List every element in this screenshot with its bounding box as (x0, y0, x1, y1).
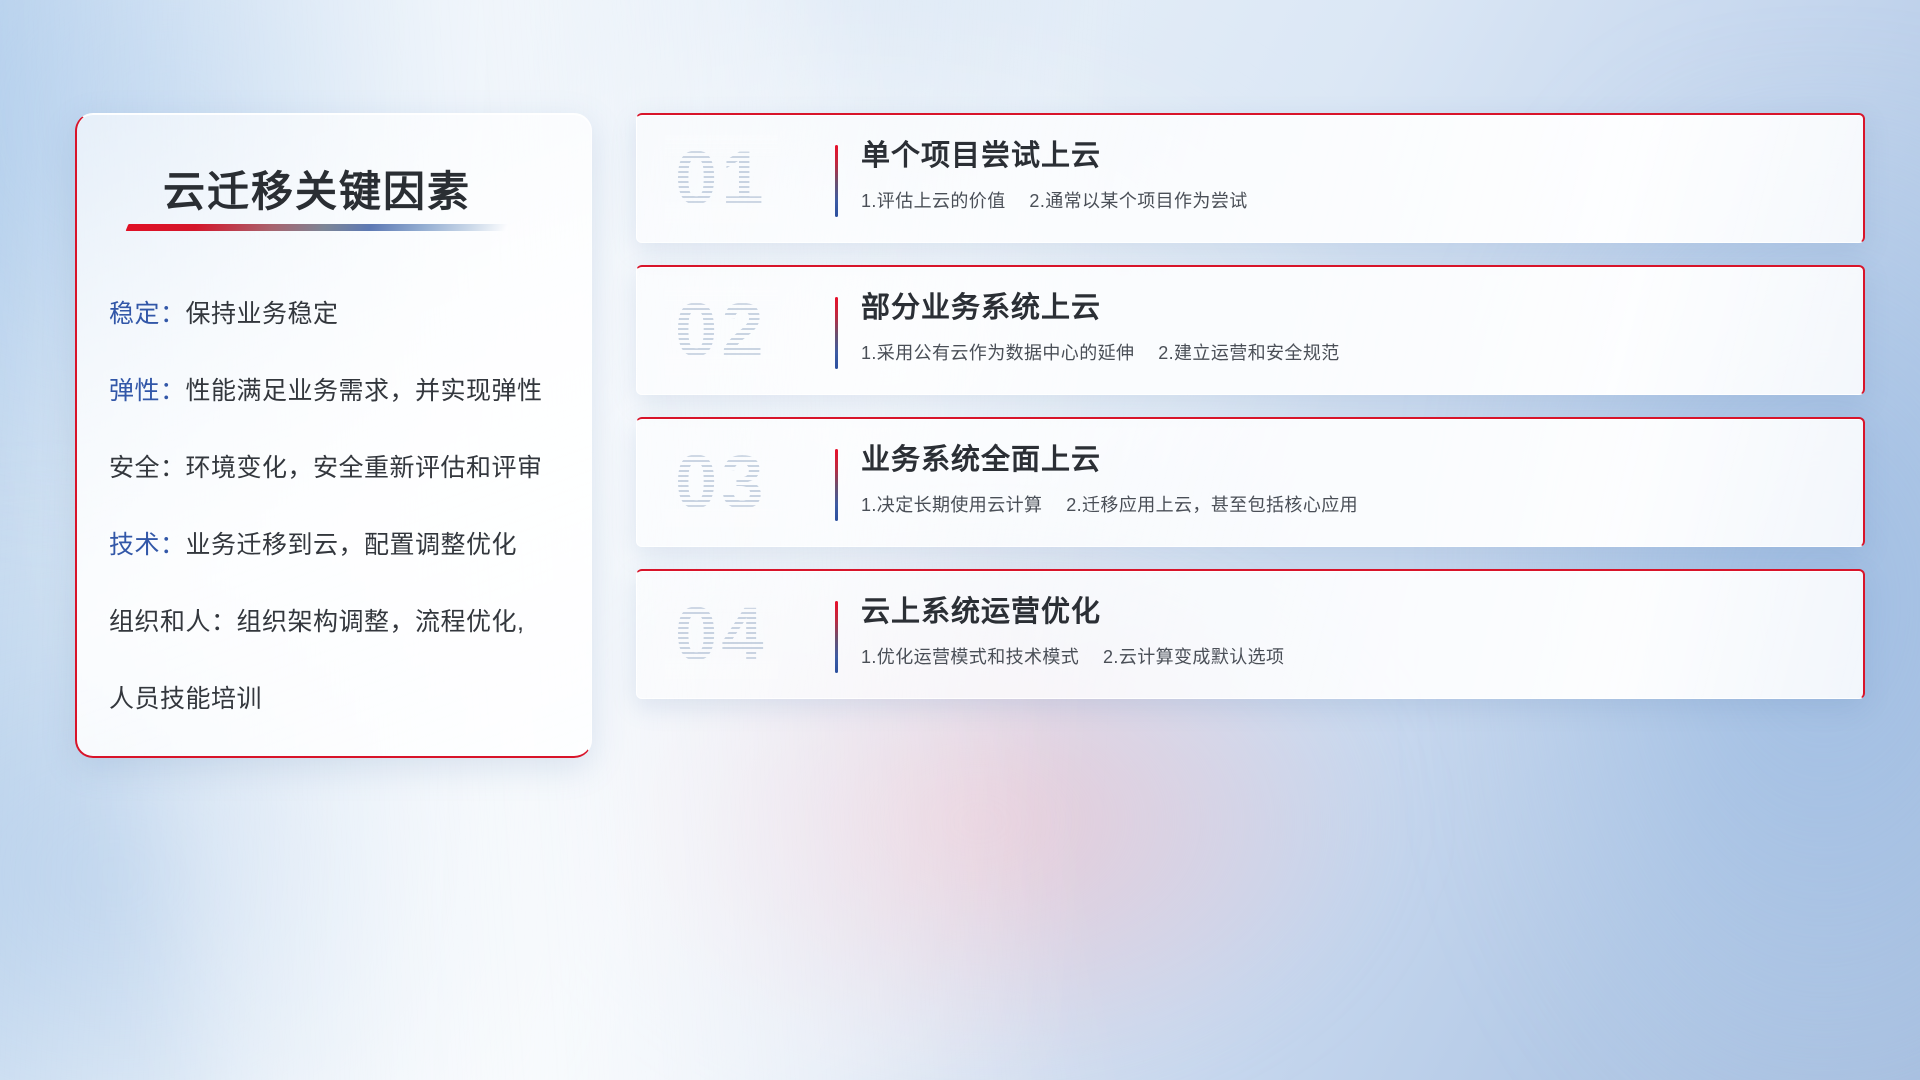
page-title: 云迁移关键因素 (163, 158, 471, 219)
factor-text: 业务迁移到云，配置调整优化 (186, 531, 518, 559)
stage-number: 02 (675, 293, 768, 369)
stage-number: 03 (675, 445, 768, 521)
factor-text-continuation: 人员技能培训 (109, 679, 567, 715)
list-item: 组织和人：组织架构调整，流程优化, (109, 610, 567, 635)
factor-label: 组织和人： (109, 608, 237, 636)
stage-card-01[interactable]: 01 单个项目尝试上云 1.评估上云的价值 2.通常以某个项目作为尝试 (636, 113, 1865, 243)
stage-title: 部分业务系统上云 (861, 293, 1839, 325)
stage-card-02[interactable]: 02 部分业务系统上云 1.采用公有云作为数据中心的延伸 2.建立运营和安全规范 (636, 265, 1865, 395)
migration-stage-list: 01 单个项目尝试上云 1.评估上云的价值 2.通常以某个项目作为尝试 02 部… (636, 113, 1865, 699)
stage-card-04[interactable]: 04 云上系统运营优化 1.优化运营模式和技术模式 2.云计算变成默认选项 (636, 569, 1865, 699)
stage-number: 04 (675, 597, 768, 673)
list-item: 弹性：性能满足业务需求，并实现弹性 (109, 379, 567, 404)
key-factors-list: 稳定：保持业务稳定 弹性：性能满足业务需求，并实现弹性 安全：环境变化，安全重新… (109, 302, 567, 715)
factor-label: 安全： (109, 454, 186, 482)
stage-description: 1.决定长期使用云计算 2.迁移应用上云，甚至包括核心应用 (861, 491, 1839, 517)
stage-title: 单个项目尝试上云 (861, 141, 1839, 173)
key-factors-panel: 云迁移关键因素 稳定：保持业务稳定 弹性：性能满足业务需求，并实现弹性 安全：环… (75, 113, 592, 758)
stage-description: 1.优化运营模式和技术模式 2.云计算变成默认选项 (861, 643, 1839, 669)
title-underline-accent (126, 224, 509, 231)
factor-text: 组织架构调整，流程优化, (237, 608, 525, 636)
stage-divider-accent (835, 297, 838, 369)
slide-canvas: 云迁移关键因素 稳定：保持业务稳定 弹性：性能满足业务需求，并实现弹性 安全：环… (0, 0, 1920, 1080)
stage-description: 1.采用公有云作为数据中心的延伸 2.建立运营和安全规范 (861, 339, 1839, 365)
factor-text: 保持业务稳定 (186, 300, 339, 328)
stage-divider-accent (835, 449, 838, 521)
factor-label: 技术： (109, 531, 186, 559)
stage-divider-accent (835, 145, 838, 217)
stage-number: 01 (675, 141, 768, 217)
list-item: 稳定：保持业务稳定 (109, 302, 567, 327)
stage-title: 云上系统运营优化 (861, 597, 1839, 629)
list-item: 安全：环境变化，安全重新评估和评审 (109, 456, 567, 481)
stage-title: 业务系统全面上云 (861, 445, 1839, 477)
stage-description: 1.评估上云的价值 2.通常以某个项目作为尝试 (861, 187, 1839, 213)
factor-label: 稳定： (109, 300, 186, 328)
factor-label: 弹性： (109, 377, 186, 405)
stage-card-03[interactable]: 03 业务系统全面上云 1.决定长期使用云计算 2.迁移应用上云，甚至包括核心应… (636, 417, 1865, 547)
stage-divider-accent (835, 601, 838, 673)
list-item: 技术：业务迁移到云，配置调整优化 (109, 533, 567, 558)
factor-text: 环境变化，安全重新评估和评审 (186, 454, 543, 482)
factor-text: 性能满足业务需求，并实现弹性 (186, 377, 543, 405)
